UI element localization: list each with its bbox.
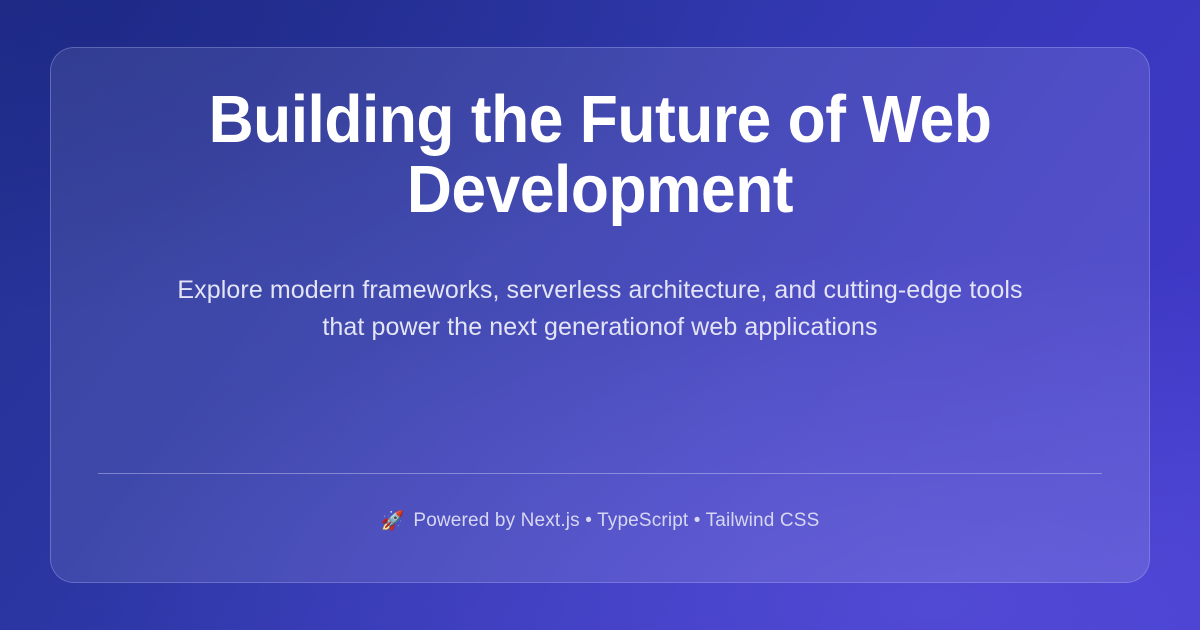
footer-credits: 🚀 Powered by Next.js • TypeScript • Tail… bbox=[98, 474, 1102, 582]
hero-card: Building the Future of Web Development E… bbox=[50, 47, 1150, 583]
footer-credits-text: Powered by Next.js • TypeScript • Tailwi… bbox=[413, 510, 819, 532]
page-title: Building the Future of Web Development bbox=[133, 85, 1067, 225]
page-subtitle: Explore modern frameworks, serverless ar… bbox=[170, 225, 1030, 346]
og-image-canvas: Building the Future of Web Development E… bbox=[0, 0, 1200, 630]
rocket-icon: 🚀 bbox=[381, 512, 405, 531]
